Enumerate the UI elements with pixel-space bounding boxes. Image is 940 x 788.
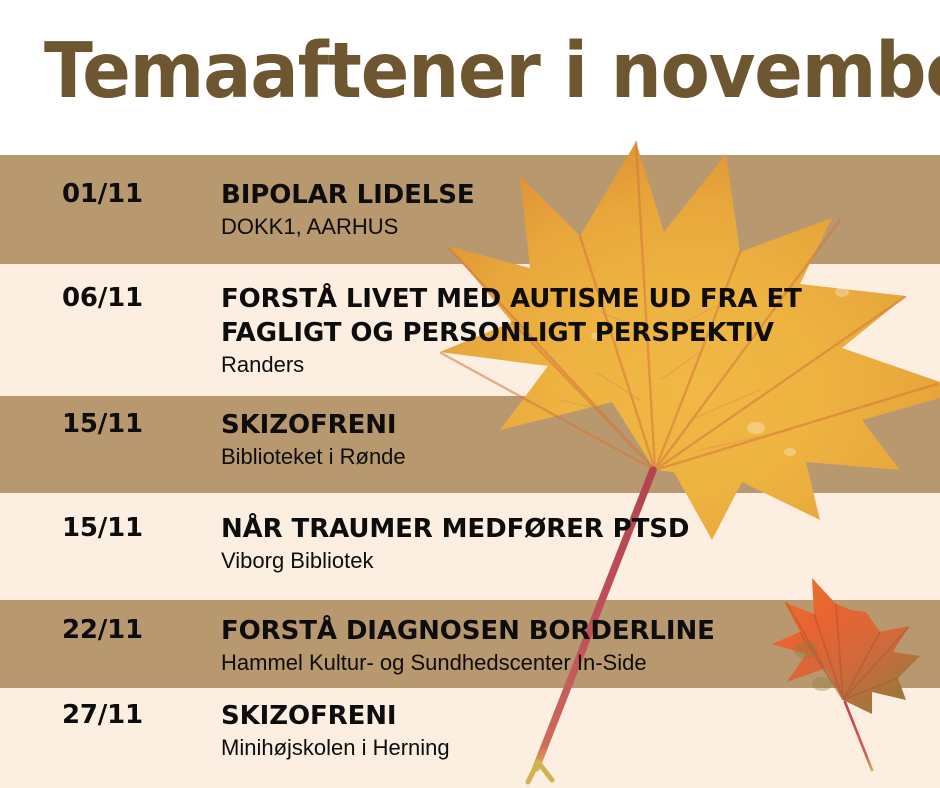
event-details: FORSTÅ LIVET MED AUTISME UD FRA ET FAGLI… [221, 282, 802, 379]
event-details: SKIZOFRENI Minihøjskolen i Herning [221, 699, 450, 762]
poster-canvas: Temaaftener i november [0, 0, 940, 788]
event-title-line2: FAGLIGT OG PERSONLIGT PERSPEKTIV [221, 316, 802, 350]
event-venue: Biblioteket i Rønde [221, 442, 406, 471]
event-title: SKIZOFRENI [221, 408, 406, 442]
event-venue: Minihøjskolen i Herning [221, 733, 450, 762]
event-venue: Hammel Kultur- og Sundhedscenter In-Side [221, 648, 715, 677]
event-title: FORSTÅ DIAGNOSEN BORDERLINE [221, 614, 715, 648]
event-venue: Randers [221, 350, 802, 379]
event-title: FORSTÅ LIVET MED AUTISME UD FRA ET [221, 282, 802, 316]
event-date: 22/11 [62, 614, 143, 646]
event-title: SKIZOFRENI [221, 699, 450, 733]
event-date: 06/11 [62, 282, 143, 314]
event-date: 15/11 [62, 408, 143, 440]
event-venue: Viborg Bibliotek [221, 546, 689, 575]
event-title: BIPOLAR LIDELSE [221, 178, 475, 212]
event-details: NÅR TRAUMER MEDFØRER PTSD Viborg Bibliot… [221, 512, 689, 575]
event-details: FORSTÅ DIAGNOSEN BORDERLINE Hammel Kultu… [221, 614, 715, 677]
event-title: NÅR TRAUMER MEDFØRER PTSD [221, 512, 689, 546]
event-date: 27/11 [62, 699, 143, 731]
event-details: SKIZOFRENI Biblioteket i Rønde [221, 408, 406, 471]
event-venue: DOKK1, AARHUS [221, 212, 475, 241]
event-details: BIPOLAR LIDELSE DOKK1, AARHUS [221, 178, 475, 241]
event-date: 01/11 [62, 178, 143, 210]
page-title: Temaaftener i november [44, 28, 940, 116]
event-date: 15/11 [62, 512, 143, 544]
